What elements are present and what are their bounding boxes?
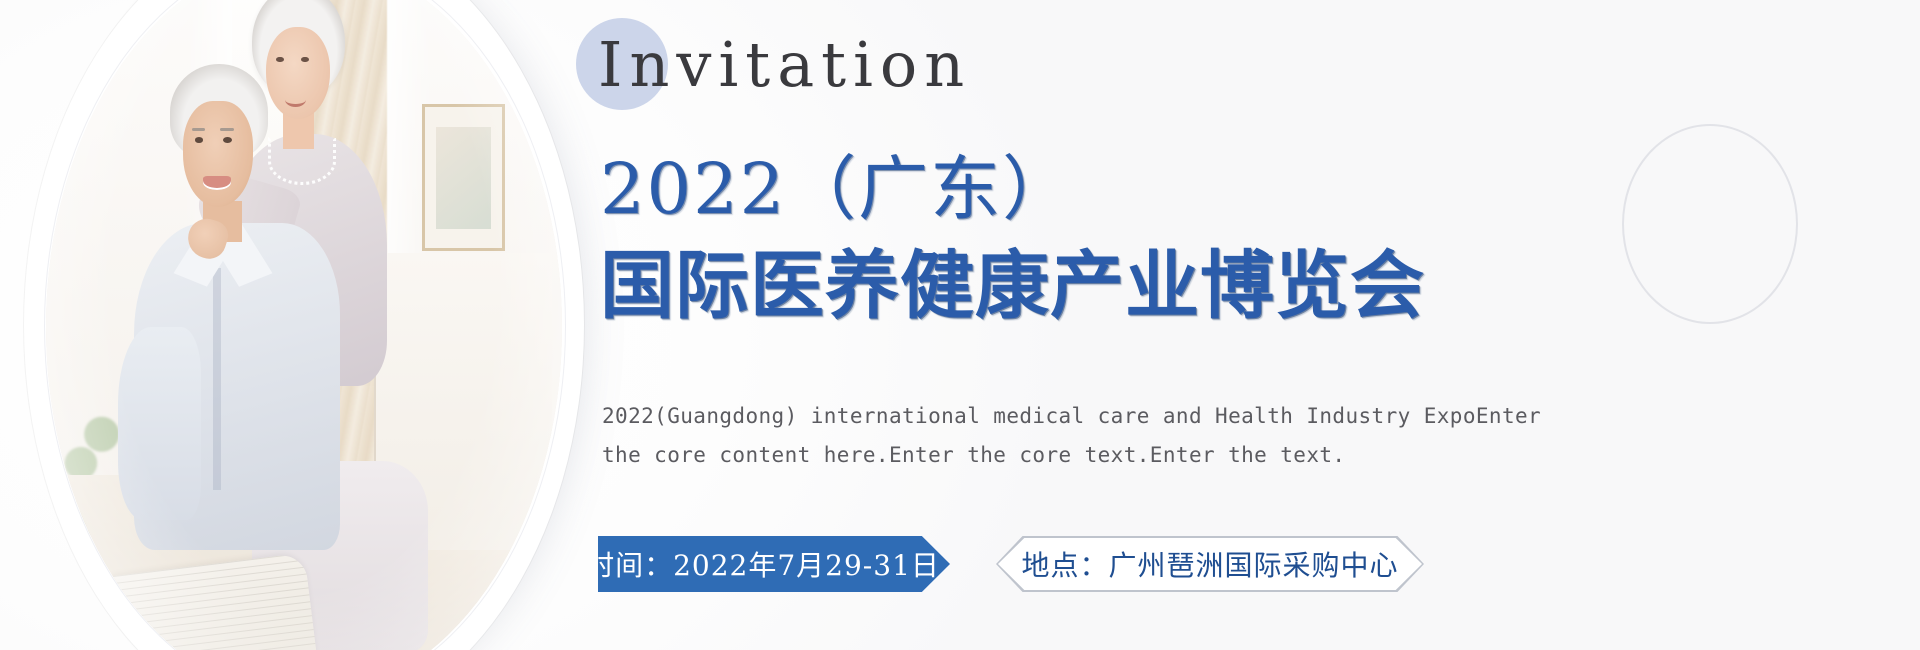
subtitle-line-1: 2022(Guangdong) international medical ca…: [602, 404, 1541, 428]
photo-ring-outline: [44, 0, 566, 650]
event-place-badge: 地点：广州琶洲国际采购中心: [996, 536, 1424, 592]
page-title-line-1: 2022（广东）: [600, 133, 1074, 234]
eyebrow-invitation: Invitation: [598, 28, 971, 101]
content-area: Invitation 2022（广东） 国际医养健康产业博览会 2022(Gua…: [598, 0, 1858, 650]
subtitle-line-2: the core content here.Enter the core tex…: [602, 443, 1345, 467]
event-time-badge: 时间：2022年7月29-31日: [598, 536, 950, 592]
invitation-banner: Invitation 2022（广东） 国际医养健康产业博览会 2022(Gua…: [0, 0, 1920, 650]
page-title-line-2: 国际医养健康产业博览会: [600, 226, 1425, 333]
